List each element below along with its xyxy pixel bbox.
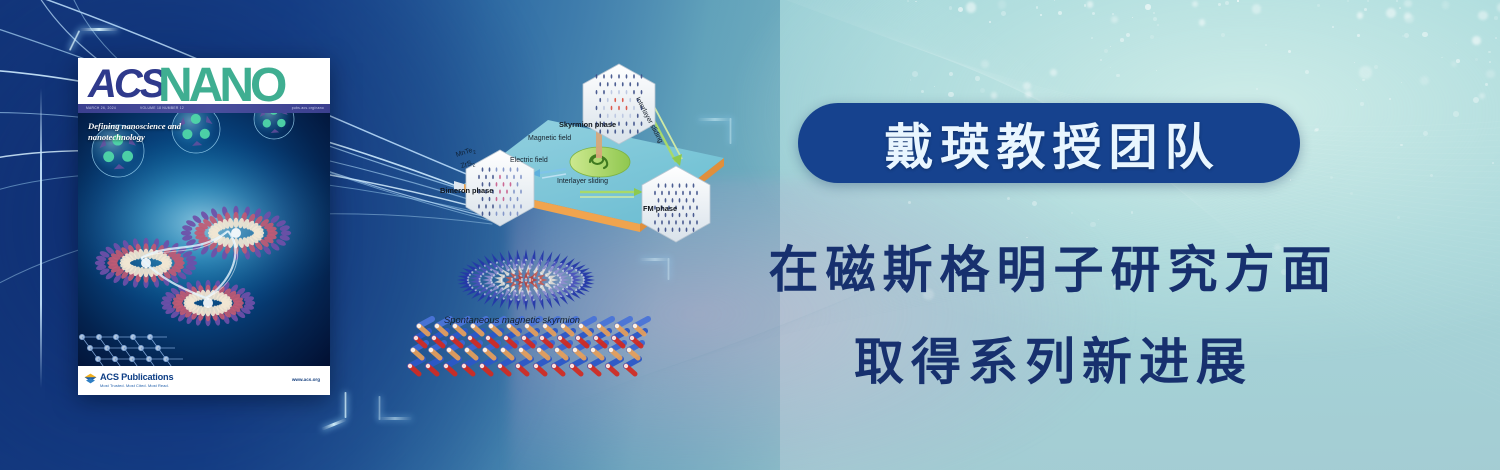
spin-texture-ring bbox=[457, 249, 595, 311]
cover-skyrmion-art bbox=[78, 113, 330, 366]
cover-footer: ACS Publications Most Trusted. Most Cite… bbox=[78, 366, 330, 395]
acs-nano-logo: ACS NANO bbox=[86, 59, 322, 105]
cover-issue-volume: VOLUME 18 NUMBER 12 bbox=[140, 106, 184, 110]
team-badge[interactable]: 戴瑛教授团队 bbox=[798, 103, 1300, 183]
acs-publications-label: ACS Publications Most Trusted. Most Cite… bbox=[100, 372, 173, 388]
acs-wordmark: ACS bbox=[87, 62, 167, 105]
decorative-vertical-line bbox=[40, 88, 42, 388]
banner-root: ACS NANO MARCH 26, 2024 VOLUME 18 NUMBER… bbox=[0, 0, 1500, 470]
atomic-lattice bbox=[408, 319, 648, 374]
journal-cover[interactable]: ACS NANO MARCH 26, 2024 VOLUME 18 NUMBER… bbox=[78, 58, 330, 395]
cover-tagline: Defining nanoscience and nanotechnology bbox=[88, 121, 184, 143]
headline-line-1: 在磁斯格明子研究方面 bbox=[716, 230, 1384, 302]
cover-issue-bar: MARCH 26, 2024 VOLUME 18 NUMBER 12 pubs.… bbox=[78, 104, 330, 113]
publisher-name: ACS Publications bbox=[100, 372, 173, 382]
cover-issue-date: MARCH 26, 2024 bbox=[86, 106, 116, 110]
skyrmion-illustration: Spontaneous magnetic skyrmion bbox=[398, 238, 666, 390]
team-badge-label: 戴瑛教授团队 bbox=[877, 108, 1220, 179]
phase-diagram: Skyrmion phase Bimeron phase FM phase Ma… bbox=[428, 58, 736, 244]
cover-artwork: Defining nanoscience and nanotechnology bbox=[78, 113, 330, 366]
nano-wordmark: NANO bbox=[158, 59, 286, 105]
publisher-tagline: Most Trusted. Most Cited. Most Read. bbox=[100, 383, 173, 388]
acs-publications-icon bbox=[84, 373, 97, 384]
cover-issue-url: pubs.acs.org/nano bbox=[292, 106, 324, 110]
acs-website-url: www.acs.org bbox=[292, 377, 320, 382]
headline-line-2: 取得系列新进展 bbox=[716, 322, 1384, 394]
